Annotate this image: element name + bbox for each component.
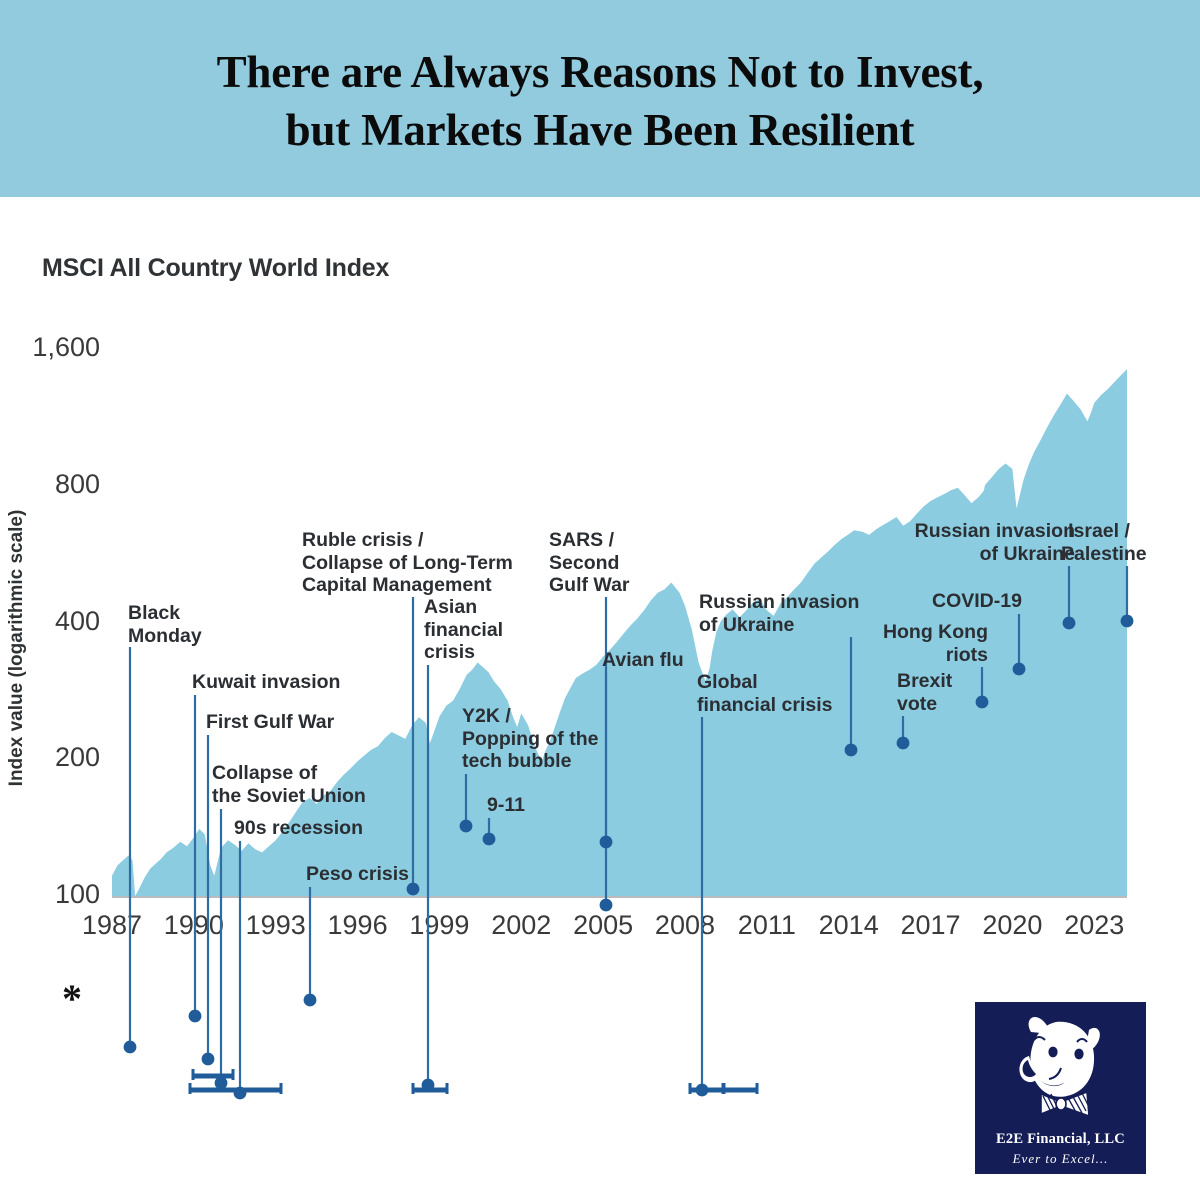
logo-company-name: E2E Financial, LLC: [975, 1131, 1146, 1148]
x-tick-2023: 2023: [1064, 910, 1124, 941]
logo-tagline: Ever to Excel...: [975, 1151, 1146, 1167]
plot-area: [112, 307, 1127, 898]
chart-figure: MSCI All Country World Index Index value…: [0, 197, 1200, 1200]
x-tick-2017: 2017: [901, 910, 961, 941]
brand-logo: E2E Financial, LLC Ever to Excel...: [975, 1002, 1146, 1174]
x-tick-1993: 1993: [246, 910, 306, 941]
area-fill-path: [112, 369, 1127, 898]
x-tick-1990: 1990: [164, 910, 224, 941]
footnote-asterisk-marker: *: [62, 979, 82, 1019]
x-tick-1987: 1987: [82, 910, 142, 941]
dog-head-bowtie-icon: [1001, 1010, 1121, 1130]
x-tick-2014: 2014: [819, 910, 879, 941]
x-tick-2002: 2002: [491, 910, 551, 941]
header-title-line-1: There are Always Reasons Not to Invest,: [217, 43, 984, 101]
header-banner: There are Always Reasons Not to Invest, …: [0, 0, 1200, 197]
x-tick-1996: 1996: [328, 910, 388, 941]
x-tick-2005: 2005: [573, 910, 633, 941]
header-title-line-2: but Markets Have Been Resilient: [286, 101, 915, 159]
index-area-series: [112, 307, 1127, 898]
x-tick-2008: 2008: [655, 910, 715, 941]
x-tick-2020: 2020: [982, 910, 1042, 941]
x-tick-2011: 2011: [738, 910, 796, 941]
x-tick-1999: 1999: [409, 910, 469, 941]
